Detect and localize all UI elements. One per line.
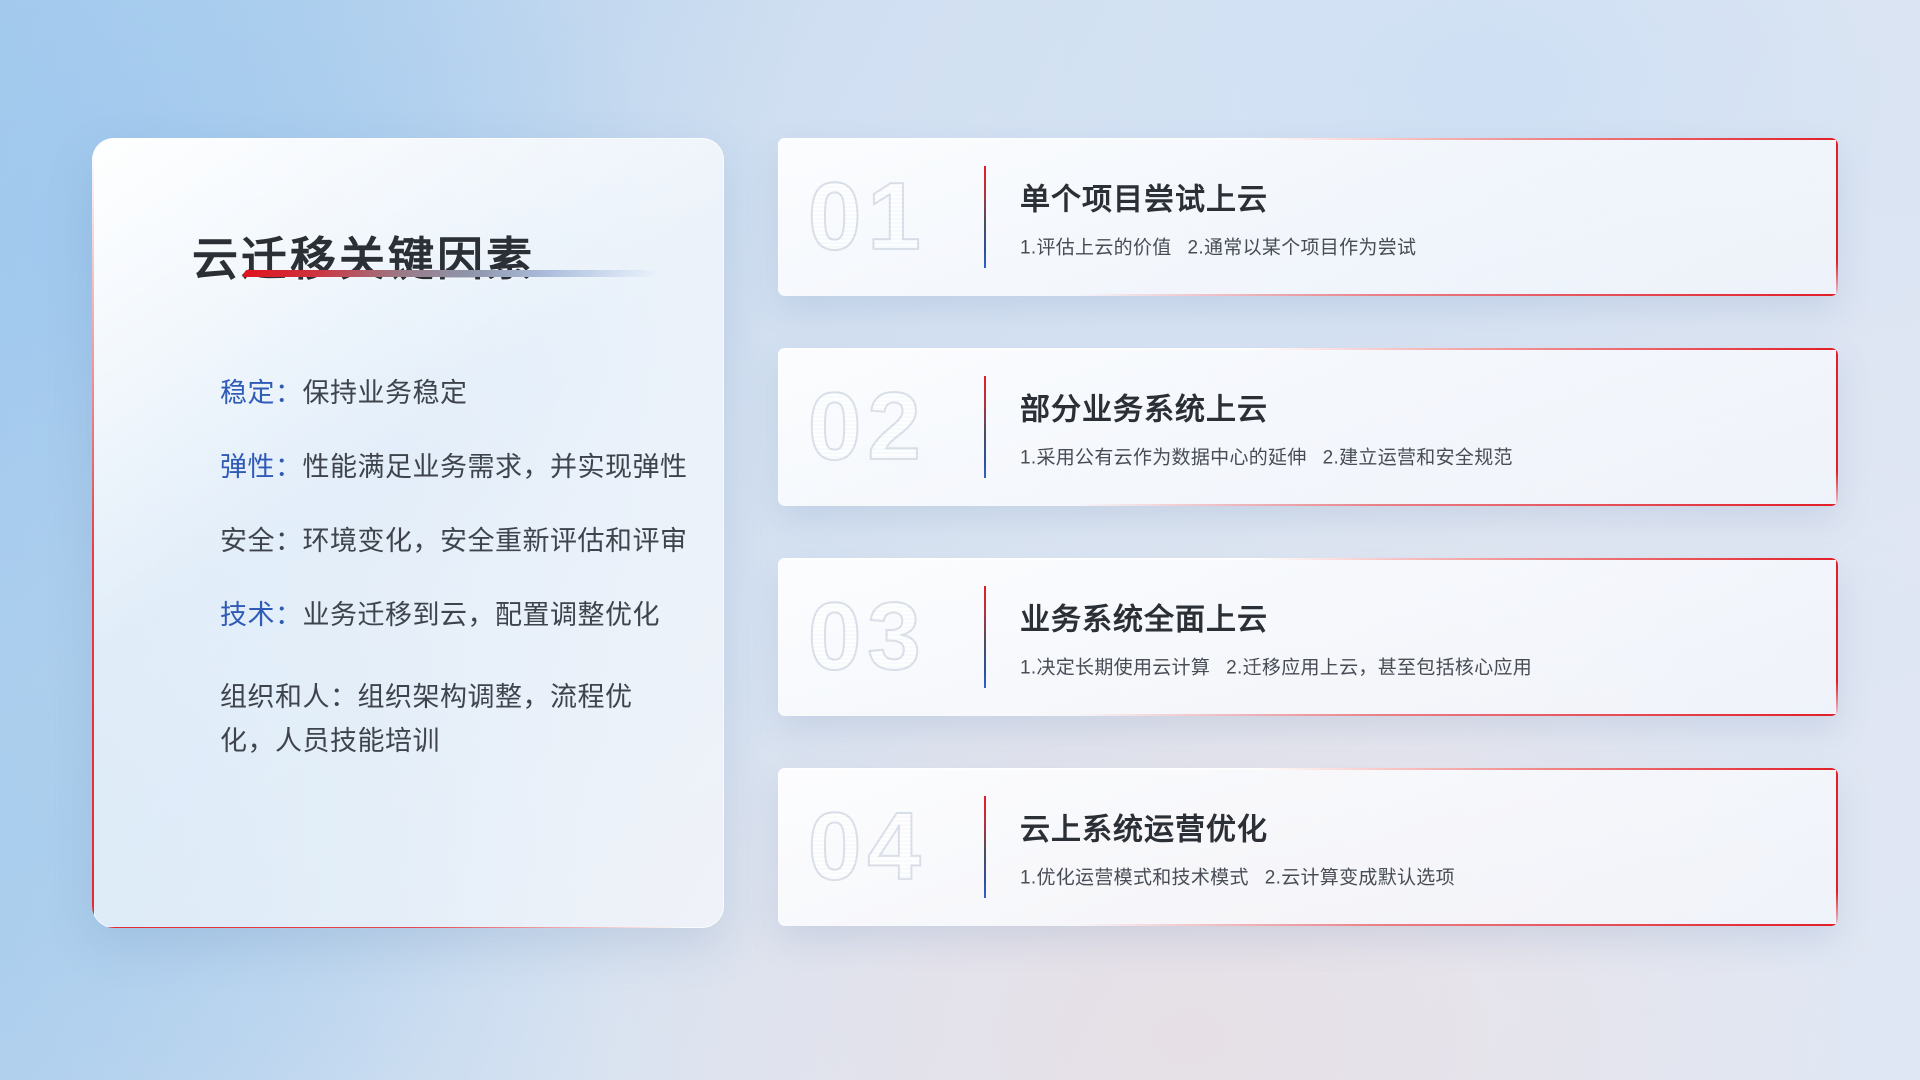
factor-item: 安全：环境变化，安全重新评估和评审	[220, 528, 684, 555]
migration-steps-list: 01 单个项目尝试上云 1.评估上云的价值2.通常以某个项目作为尝试 02 部分…	[778, 138, 1838, 978]
step-content: 业务系统全面上云 1.决定长期使用云计算2.迁移应用上云，甚至包括核心应用	[1020, 595, 1808, 680]
step-number-watermark: 01	[808, 162, 927, 272]
card-top-accent	[778, 558, 1838, 560]
step-description: 1.采用公有云作为数据中心的延伸2.建立运营和安全规范	[1020, 443, 1808, 470]
factor-item: 技术：业务迁移到云，配置调整优化	[220, 602, 684, 629]
step-description-part-1: 1.采用公有云作为数据中心的延伸	[1020, 448, 1307, 469]
card-top-accent	[778, 348, 1838, 350]
card-top-accent	[778, 138, 1838, 140]
card-left-highlight	[778, 768, 779, 926]
factor-label: 弹性：	[220, 452, 303, 482]
factor-value: 保持业务稳定	[303, 378, 468, 408]
key-factors-card: 云迁移关键因素 稳定：保持业务稳定 弹性：性能满足业务需求，并实现弹性 安全：环…	[92, 138, 724, 928]
step-description: 1.评估上云的价值2.通常以某个项目作为尝试	[1020, 233, 1808, 260]
factor-item: 弹性：性能满足业务需求，并实现弹性	[220, 454, 684, 481]
step-content: 云上系统运营优化 1.优化运营模式和技术模式2.云计算变成默认选项	[1020, 805, 1808, 890]
factor-item: 组织和人：组织架构调整，流程优化，人员技能培训	[220, 676, 684, 763]
step-content: 单个项目尝试上云 1.评估上云的价值2.通常以某个项目作为尝试	[1020, 175, 1808, 260]
card-bottom-accent	[1075, 714, 1838, 716]
step-card-01[interactable]: 01 单个项目尝试上云 1.评估上云的价值2.通常以某个项目作为尝试	[778, 138, 1838, 296]
step-divider-bar	[984, 586, 986, 688]
card-right-accent	[1836, 558, 1838, 716]
card-right-accent	[1836, 138, 1838, 296]
card-left-highlight	[778, 348, 779, 506]
step-title: 业务系统全面上云	[1020, 595, 1808, 639]
step-description-part-2: 2.迁移应用上云，甚至包括核心应用	[1226, 658, 1532, 679]
step-content: 部分业务系统上云 1.采用公有云作为数据中心的延伸2.建立运营和安全规范	[1020, 385, 1808, 470]
title-underline-gradient	[242, 270, 660, 277]
step-title: 云上系统运营优化	[1020, 805, 1808, 849]
step-number-watermark: 03	[808, 582, 927, 692]
card-bottom-accent	[1075, 924, 1838, 926]
step-description: 1.优化运营模式和技术模式2.云计算变成默认选项	[1020, 863, 1808, 890]
step-card-04[interactable]: 04 云上系统运营优化 1.优化运营模式和技术模式2.云计算变成默认选项	[778, 768, 1838, 926]
factor-value: 业务迁移到云，配置调整优化	[303, 600, 661, 630]
factor-value: 性能满足业务需求，并实现弹性	[303, 452, 688, 482]
step-description-part-2: 2.建立运营和安全规范	[1323, 448, 1513, 469]
card-bottom-red-accent	[104, 927, 684, 929]
card-right-accent	[1836, 348, 1838, 506]
step-description-part-1: 1.评估上云的价值	[1020, 238, 1172, 259]
step-number-watermark: 04	[808, 792, 927, 902]
card-left-highlight	[778, 138, 779, 296]
step-title: 部分业务系统上云	[1020, 385, 1808, 429]
step-description: 1.决定长期使用云计算2.迁移应用上云，甚至包括核心应用	[1020, 653, 1808, 680]
card-bottom-accent	[1075, 504, 1838, 506]
step-description-part-2: 2.通常以某个项目作为尝试	[1188, 238, 1417, 259]
card-top-accent	[778, 768, 1838, 770]
factor-label: 技术：	[220, 600, 303, 630]
card-right-accent	[1836, 768, 1838, 926]
step-card-03[interactable]: 03 业务系统全面上云 1.决定长期使用云计算2.迁移应用上云，甚至包括核心应用	[778, 558, 1838, 716]
card-bottom-accent	[1075, 294, 1838, 296]
step-number-watermark: 02	[808, 372, 927, 482]
factor-value: 环境变化，安全重新评估和评审	[303, 526, 688, 556]
step-description-part-2: 2.云计算变成默认选项	[1265, 868, 1455, 889]
factor-item: 稳定：保持业务稳定	[220, 380, 684, 407]
card-left-highlight	[778, 558, 779, 716]
step-description-part-1: 1.决定长期使用云计算	[1020, 658, 1210, 679]
step-description-part-1: 1.优化运营模式和技术模式	[1020, 868, 1249, 889]
factors-list: 稳定：保持业务稳定 弹性：性能满足业务需求，并实现弹性 安全：环境变化，安全重新…	[220, 380, 684, 763]
step-divider-bar	[984, 796, 986, 898]
step-card-02[interactable]: 02 部分业务系统上云 1.采用公有云作为数据中心的延伸2.建立运营和安全规范	[778, 348, 1838, 506]
factor-label: 稳定：	[220, 378, 303, 408]
card-left-red-accent	[92, 150, 94, 928]
page-title: 云迁移关键因素	[192, 223, 535, 289]
step-divider-bar	[984, 166, 986, 268]
factor-label: 安全：	[220, 526, 303, 556]
step-divider-bar	[984, 376, 986, 478]
step-title: 单个项目尝试上云	[1020, 175, 1808, 219]
factor-label: 组织和人：	[220, 682, 358, 712]
